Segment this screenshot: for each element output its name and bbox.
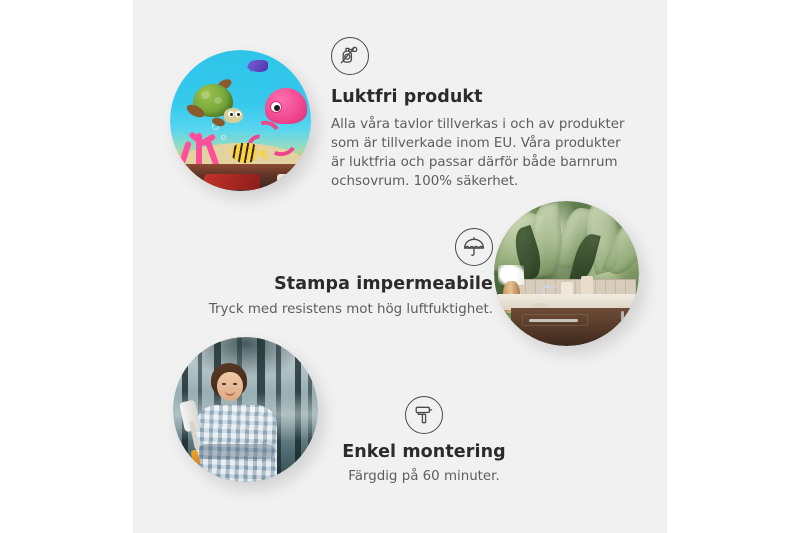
- yellow-striped-fish: [231, 143, 257, 163]
- paint-roller-icon: [405, 396, 443, 434]
- underwater-kids-artwork-photo: [170, 50, 311, 191]
- faucet: [542, 285, 556, 288]
- feature-mounting: Enkel montering Färgdig på 60 minuter.: [308, 396, 540, 486]
- pink-coral: [178, 131, 224, 167]
- feature-title: Stampa impermeabile: [201, 274, 493, 296]
- furniture-block: [277, 174, 302, 188]
- eye: [233, 383, 237, 385]
- folded-arms: [199, 444, 274, 459]
- wood-vanity: [511, 308, 639, 346]
- woman-face: [217, 372, 243, 401]
- room-foreground: [170, 164, 311, 191]
- turtle-eye: [235, 111, 241, 117]
- feature-icon-row: [308, 396, 540, 434]
- feature-icon-row: [201, 228, 493, 266]
- octopus-head: [265, 88, 307, 124]
- umbrella-icon: [455, 228, 493, 266]
- drawer-handle: [529, 319, 577, 322]
- door-handle: [621, 311, 624, 332]
- feature-body: Tryck med resistens mot hög luftfuktighe…: [201, 300, 493, 319]
- feature-body: Färgdig på 60 minuter.: [308, 467, 540, 486]
- woman-with-paint-roller-photo: [173, 337, 318, 482]
- feature-body: Alla våra tavlor tillverkas i och av pro…: [331, 115, 631, 191]
- feature-title: Enkel montering: [308, 442, 540, 464]
- feature-title: Luktfri produkt: [331, 87, 631, 109]
- feature-odourless: Luktfri produkt Alla våra tavlor tillver…: [331, 37, 631, 191]
- soap-dish: [532, 303, 548, 308]
- eye: [222, 383, 226, 385]
- promo-panel: Luktfri produkt Alla våra tavlor tillver…: [133, 0, 667, 533]
- feature-waterproof: Stampa impermeabile Tryck med resistens …: [201, 228, 493, 319]
- smile: [225, 391, 235, 396]
- turtle-head: [224, 108, 243, 123]
- no-perfume-icon: [331, 37, 369, 75]
- turtle-eye: [228, 111, 234, 117]
- octopus-eye: [270, 101, 282, 113]
- red-rug: [204, 174, 260, 190]
- bathroom-leaf-wallpaper-photo: [494, 201, 639, 346]
- purple-fish: [248, 60, 268, 72]
